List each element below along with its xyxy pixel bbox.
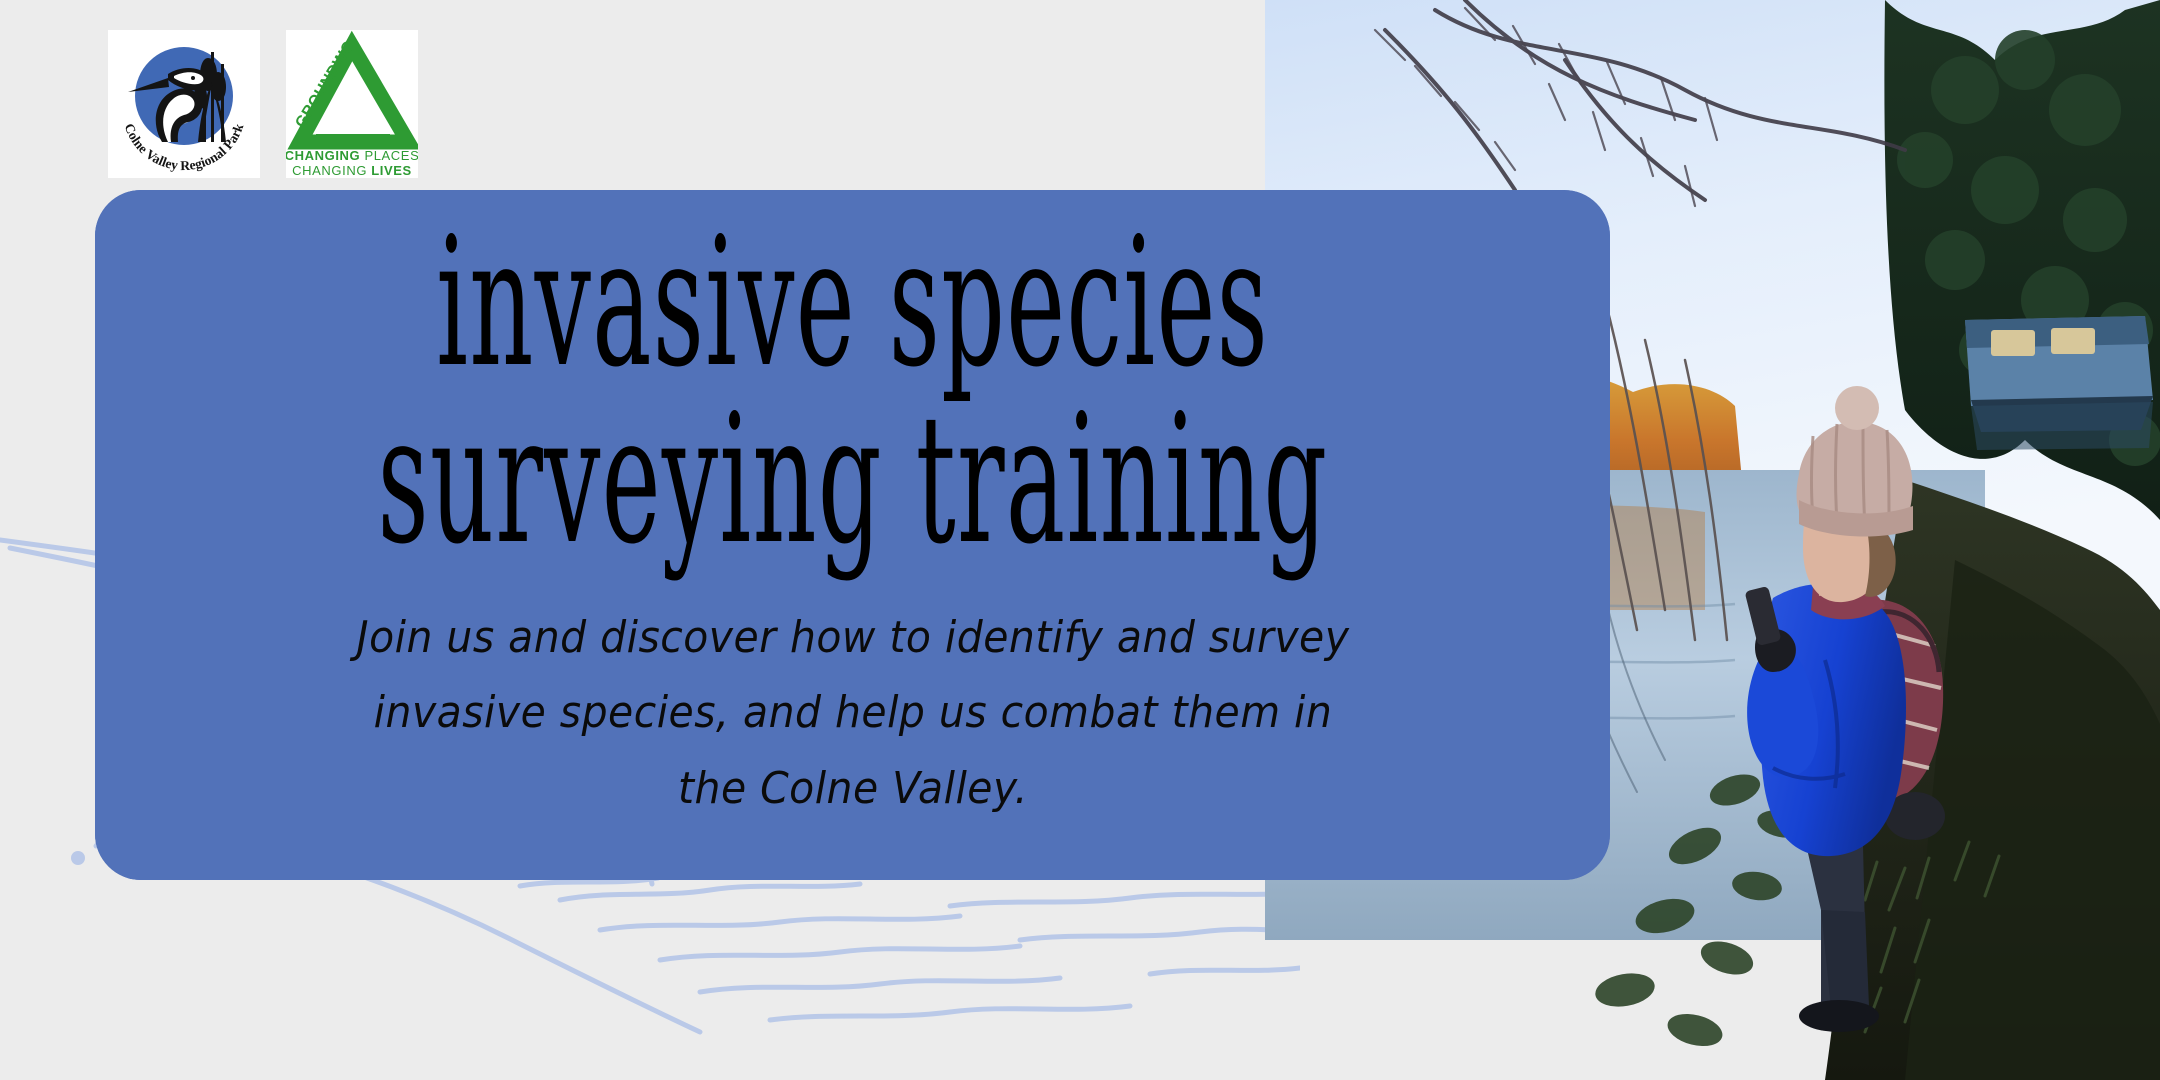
headline-panel: invasive species surveying training Join… bbox=[95, 190, 1610, 880]
svg-text:CHANGING LIVES: CHANGING LIVES bbox=[292, 163, 412, 178]
logo-strip: Colne Valley Regional Park GROUNDWORK bbox=[108, 30, 418, 178]
body-copy: Join us and discover how to identify and… bbox=[341, 600, 1364, 827]
svg-text:CHANGING PLACES: CHANGING PLACES bbox=[286, 148, 418, 163]
headline-line-1: invasive species bbox=[436, 218, 1269, 389]
headline-line-2: surveying training bbox=[377, 395, 1328, 566]
promo-banner: invasive species surveying training Join… bbox=[0, 0, 2160, 1080]
colne-valley-regional-park-logo: Colne Valley Regional Park bbox=[108, 30, 260, 178]
groundwork-logo: GROUNDWORK CHANGING PLACES CHANGING LIVE… bbox=[286, 30, 418, 178]
